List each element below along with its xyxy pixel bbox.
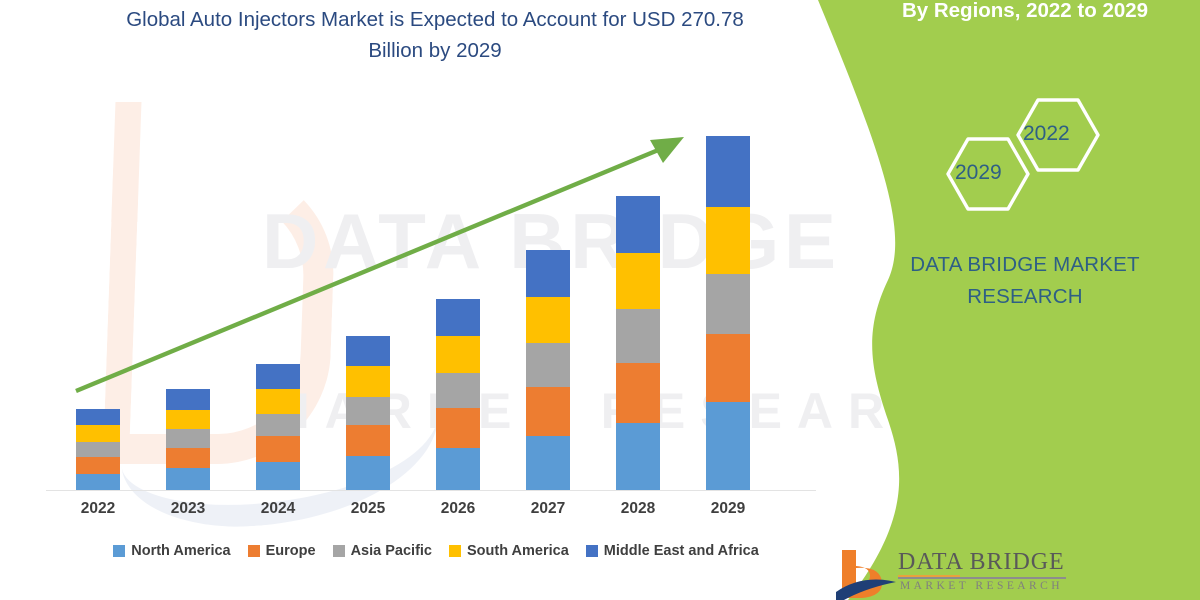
bar-segment-2028-europe (616, 363, 660, 423)
logo-mark-icon (836, 548, 896, 600)
bar-segment-2029-asia-pacific (706, 274, 750, 334)
hexagon-2022-label: 2022 (1023, 122, 1070, 146)
chart-plot-area: 20222023202420252026202720282029 (0, 0, 830, 600)
legend-item-middle-east-and-africa[interactable]: Middle East and Africa (586, 543, 759, 559)
bar-segment-2024-south-america (256, 389, 300, 414)
bar-segment-2025-europe (346, 425, 390, 456)
bar-segment-2026-north-america (436, 448, 480, 490)
bar-segment-2025-north-america (346, 456, 390, 490)
x-label-2024: 2024 (238, 500, 318, 518)
bar-segment-2029-middle-east-and-africa (706, 136, 750, 207)
company-logo: DATA BRIDGE MARKET RESEARCH (836, 548, 1176, 600)
legend-item-europe[interactable]: Europe (248, 543, 316, 559)
hexagon-badges: 2022 2029 (930, 95, 1115, 215)
bar-2022 (76, 409, 120, 490)
bar-2025 (346, 336, 390, 490)
brand-line-2: RESEARCH (860, 285, 1190, 309)
x-label-2025: 2025 (328, 500, 408, 518)
x-label-2027: 2027 (508, 500, 588, 518)
legend-item-south-america[interactable]: South America (449, 543, 569, 559)
bar-segment-2024-middle-east-and-africa (256, 364, 300, 389)
bar-segment-2028-north-america (616, 423, 660, 490)
bar-segment-2022-middle-east-and-africa (76, 409, 120, 426)
bar-segment-2029-south-america (706, 207, 750, 274)
bar-2024 (256, 364, 300, 490)
legend-swatch-icon (333, 545, 345, 557)
bar-2026 (436, 299, 480, 490)
bar-segment-2023-south-america (166, 410, 210, 430)
bar-segment-2027-middle-east-and-africa (526, 250, 570, 297)
bar-segment-2028-asia-pacific (616, 309, 660, 363)
bar-segment-2026-middle-east-and-africa (436, 299, 480, 336)
bar-segment-2022-south-america (76, 425, 120, 442)
bar-segment-2027-europe (526, 387, 570, 437)
chart-legend: North AmericaEuropeAsia PacificSouth Ame… (46, 540, 826, 562)
x-label-2023: 2023 (148, 500, 228, 518)
legend-label: Asia Pacific (351, 543, 432, 559)
bar-segment-2026-south-america (436, 336, 480, 373)
logo-name: DATA BRIDGE (898, 549, 1065, 576)
legend-label: Europe (266, 543, 316, 559)
bar-segment-2024-europe (256, 436, 300, 462)
x-axis-line (46, 490, 816, 491)
bar-segment-2023-asia-pacific (166, 429, 210, 448)
bar-2027 (526, 250, 570, 490)
x-label-2028: 2028 (598, 500, 678, 518)
brand-line-1: DATA BRIDGE MARKET (860, 253, 1190, 277)
x-label-2026: 2026 (418, 500, 498, 518)
legend-swatch-icon (449, 545, 461, 557)
bar-segment-2023-middle-east-and-africa (166, 389, 210, 410)
x-label-2029: 2029 (688, 500, 768, 518)
bar-segment-2024-north-america (256, 462, 300, 490)
legend-label: South America (467, 543, 569, 559)
legend-swatch-icon (113, 545, 125, 557)
bar-segment-2025-asia-pacific (346, 397, 390, 425)
bar-segment-2022-asia-pacific (76, 442, 120, 457)
legend-label: North America (131, 543, 230, 559)
legend-item-asia-pacific[interactable]: Asia Pacific (333, 543, 432, 559)
bar-segment-2027-north-america (526, 436, 570, 490)
bar-segment-2026-asia-pacific (436, 373, 480, 408)
bar-segment-2023-europe (166, 448, 210, 469)
x-label-2022: 2022 (58, 500, 138, 518)
bar-segment-2025-middle-east-and-africa (346, 336, 390, 366)
bar-2029 (706, 136, 750, 490)
bar-segment-2029-north-america (706, 402, 750, 490)
logo-tagline: MARKET RESEARCH (900, 580, 1063, 592)
bar-segment-2027-asia-pacific (526, 343, 570, 386)
bar-segment-2027-south-america (526, 297, 570, 343)
bar-segment-2022-north-america (76, 474, 120, 491)
legend-swatch-icon (248, 545, 260, 557)
bar-segment-2029-europe (706, 334, 750, 402)
bar-segment-2024-asia-pacific (256, 414, 300, 437)
hexagon-2029-label: 2029 (955, 161, 1002, 185)
bar-segment-2022-europe (76, 457, 120, 474)
legend-swatch-icon (586, 545, 598, 557)
bar-segment-2028-south-america (616, 253, 660, 310)
panel-subtitle: By Regions, 2022 to 2029 (860, 0, 1190, 24)
bar-segment-2028-middle-east-and-africa (616, 196, 660, 253)
bar-segment-2026-europe (436, 408, 480, 447)
logo-rule (898, 577, 1066, 579)
bar-segment-2023-north-america (166, 468, 210, 490)
legend-label: Middle East and Africa (604, 543, 759, 559)
infographic-canvas: DATA BRIDGE MARKET RESEARCH By Regions, … (0, 0, 1200, 600)
bar-2023 (166, 389, 210, 490)
legend-item-north-america[interactable]: North America (113, 543, 230, 559)
bar-segment-2025-south-america (346, 366, 390, 397)
bar-2028 (616, 196, 660, 490)
